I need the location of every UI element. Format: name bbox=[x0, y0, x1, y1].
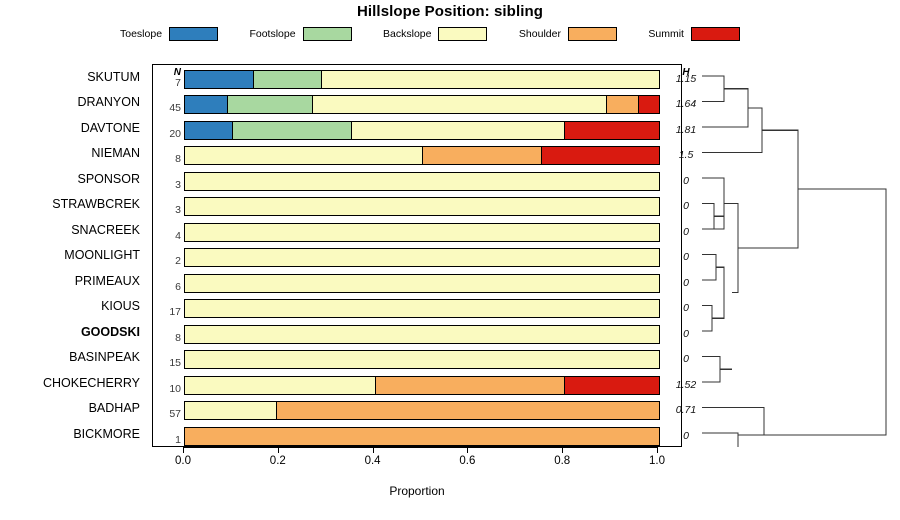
dendrogram-svg bbox=[700, 64, 896, 447]
legend-swatch-shoulder bbox=[568, 27, 617, 41]
row-n-value: 4 bbox=[153, 230, 181, 242]
bar-segment-shoulder bbox=[185, 428, 659, 445]
category-label-goodski[interactable]: GOODSKI bbox=[81, 325, 140, 339]
legend-swatch-footslope bbox=[303, 27, 352, 41]
stacked-bar[interactable] bbox=[184, 223, 660, 242]
legend-item-toeslope[interactable]: Toeslope bbox=[120, 27, 218, 41]
category-label-dranyon[interactable]: DRANYON bbox=[77, 95, 140, 109]
legend-item-label: Backslope bbox=[383, 28, 431, 40]
stacked-bar[interactable] bbox=[184, 350, 660, 369]
x-tick bbox=[278, 447, 279, 453]
category-label-strawbcrek[interactable]: STRAWBCREK bbox=[52, 197, 140, 211]
bar-segment-toeslope bbox=[185, 96, 227, 113]
chart-row[interactable]: 17 bbox=[153, 295, 681, 319]
stacked-bar[interactable] bbox=[184, 325, 660, 344]
legend-swatch-toeslope bbox=[169, 27, 218, 41]
legend-swatch-backslope bbox=[438, 27, 487, 41]
bar-segment-backslope bbox=[185, 300, 659, 317]
x-tick bbox=[562, 447, 563, 453]
bar-segment-shoulder bbox=[422, 147, 541, 164]
page-title: Hillslope Position: sibling bbox=[0, 3, 900, 20]
row-n-value: 6 bbox=[153, 281, 181, 293]
chart-row[interactable]: 45 bbox=[153, 91, 681, 115]
legend-item-backslope[interactable]: Backslope bbox=[383, 27, 487, 41]
stacked-bar[interactable] bbox=[184, 401, 660, 420]
stacked-bar[interactable] bbox=[184, 95, 660, 114]
chart-row[interactable]: 57 bbox=[153, 397, 681, 421]
legend-item-summit[interactable]: Summit bbox=[648, 27, 740, 41]
chart-row[interactable]: 3 bbox=[153, 193, 681, 217]
bar-segment-backslope bbox=[312, 96, 607, 113]
chart-row[interactable]: 2 bbox=[153, 244, 681, 268]
plot-area: N745208334261781510571 bbox=[152, 64, 682, 447]
row-n-value: 20 bbox=[153, 128, 181, 140]
legend: ToeslopeFootslopeBackslopeShoulderSummit bbox=[120, 25, 740, 43]
chart-row[interactable]: 1 bbox=[153, 423, 681, 447]
row-n-value: 8 bbox=[153, 153, 181, 165]
stacked-bar[interactable] bbox=[184, 376, 660, 395]
category-label-chokecherry[interactable]: CHOKECHERRY bbox=[43, 376, 140, 390]
chart-row[interactable]: 4 bbox=[153, 219, 681, 243]
x-tick-label: 1.0 bbox=[637, 455, 677, 467]
legend-item-label: Summit bbox=[648, 28, 684, 40]
bar-segment-backslope bbox=[185, 326, 659, 343]
chart-row[interactable]: 20 bbox=[153, 117, 681, 141]
bar-segment-backslope bbox=[185, 198, 659, 215]
stacked-bar[interactable] bbox=[184, 121, 660, 140]
bar-segment-footslope bbox=[253, 71, 321, 88]
legend-item-label: Toeslope bbox=[120, 28, 162, 40]
category-label-kious[interactable]: KIOUS bbox=[101, 299, 140, 313]
bar-segment-toeslope bbox=[185, 122, 232, 139]
bar-segment-backslope bbox=[185, 224, 659, 241]
bar-segment-backslope bbox=[185, 173, 659, 190]
row-n-value: 10 bbox=[153, 383, 181, 395]
row-n-value: 1 bbox=[153, 434, 181, 446]
stacked-bar[interactable] bbox=[184, 248, 660, 267]
row-n-value: 17 bbox=[153, 306, 181, 318]
bar-segment-summit bbox=[564, 377, 659, 394]
category-label-moonlight[interactable]: MOONLIGHT bbox=[64, 248, 140, 262]
stacked-bar[interactable] bbox=[184, 172, 660, 191]
bar-segment-shoulder bbox=[375, 377, 565, 394]
chart-row[interactable]: 10 bbox=[153, 372, 681, 396]
chart-row[interactable]: 8 bbox=[153, 142, 681, 166]
category-label-primeaux[interactable]: PRIMEAUX bbox=[75, 274, 140, 288]
legend-item-label: Shoulder bbox=[519, 28, 561, 40]
bar-segment-footslope bbox=[227, 96, 311, 113]
legend-item-footslope[interactable]: Footslope bbox=[249, 27, 351, 41]
category-label-bickmore[interactable]: BICKMORE bbox=[73, 427, 140, 441]
bar-segment-toeslope bbox=[185, 71, 253, 88]
category-label-snacreek[interactable]: SNACREEK bbox=[71, 223, 140, 237]
category-label-sponsor[interactable]: SPONSOR bbox=[77, 172, 140, 186]
row-n-value: 15 bbox=[153, 357, 181, 369]
bar-segment-backslope bbox=[185, 377, 375, 394]
row-n-value: 7 bbox=[153, 77, 181, 89]
stacked-bar[interactable] bbox=[184, 274, 660, 293]
x-tick bbox=[467, 447, 468, 453]
bar-segment-backslope bbox=[185, 351, 659, 368]
row-n-value: 45 bbox=[153, 102, 181, 114]
stacked-bar[interactable] bbox=[184, 146, 660, 165]
category-label-basinpeak[interactable]: BASINPEAK bbox=[69, 350, 140, 364]
x-tick-label: 0.0 bbox=[163, 455, 203, 467]
chart-row[interactable]: 3 bbox=[153, 168, 681, 192]
x-tick-label: 0.8 bbox=[542, 455, 582, 467]
category-label-skutum[interactable]: SKUTUM bbox=[87, 70, 140, 84]
bar-segment-backslope bbox=[351, 122, 564, 139]
bar-segment-backslope bbox=[185, 147, 422, 164]
stacked-bar[interactable] bbox=[184, 299, 660, 318]
legend-item-label: Footslope bbox=[249, 28, 295, 40]
row-n-value: 2 bbox=[153, 255, 181, 267]
bar-segment-backslope bbox=[185, 402, 276, 419]
stacked-bar[interactable] bbox=[184, 197, 660, 216]
x-axis-line bbox=[183, 447, 657, 448]
legend-swatch-summit bbox=[691, 27, 740, 41]
chart-row[interactable]: 7 bbox=[153, 66, 681, 90]
dendrogram bbox=[700, 64, 896, 447]
bar-segment-backslope bbox=[185, 249, 659, 266]
chart-row[interactable]: 15 bbox=[153, 346, 681, 370]
stacked-bar[interactable] bbox=[184, 427, 660, 446]
stacked-bar[interactable] bbox=[184, 70, 660, 89]
x-tick-label: 0.6 bbox=[447, 455, 487, 467]
category-label-davtone[interactable]: DAVTONE bbox=[81, 121, 140, 135]
category-label-nieman[interactable]: NIEMAN bbox=[91, 146, 140, 160]
bar-segment-footslope bbox=[232, 122, 351, 139]
x-tick bbox=[183, 447, 184, 453]
bar-segment-backslope bbox=[185, 275, 659, 292]
category-label-badhap[interactable]: BADHAP bbox=[89, 401, 140, 415]
bar-segment-shoulder bbox=[276, 402, 659, 419]
bar-segment-summit bbox=[638, 96, 659, 113]
category-axis-labels: SKUTUMDRANYONDAVTONENIEMANSPONSORSTRAWBC… bbox=[0, 64, 148, 447]
row-n-value: 57 bbox=[153, 408, 181, 420]
x-tick-label: 0.4 bbox=[353, 455, 393, 467]
x-axis: 0.00.20.40.60.81.0 bbox=[152, 447, 682, 481]
bar-segment-summit bbox=[564, 122, 659, 139]
row-n-value: 8 bbox=[153, 332, 181, 344]
x-axis-title: Proportion bbox=[152, 484, 682, 498]
chart-row[interactable]: 6 bbox=[153, 270, 681, 294]
bar-segment-backslope bbox=[321, 71, 659, 88]
legend-item-shoulder[interactable]: Shoulder bbox=[519, 27, 617, 41]
bar-segment-shoulder bbox=[606, 96, 638, 113]
row-n-value: 3 bbox=[153, 179, 181, 191]
chart-row[interactable]: 8 bbox=[153, 321, 681, 345]
x-tick-label: 0.2 bbox=[258, 455, 298, 467]
chart-root: Hillslope Position: sibling ToeslopeFoot… bbox=[0, 0, 900, 520]
x-tick bbox=[373, 447, 374, 453]
row-n-value: 3 bbox=[153, 204, 181, 216]
x-tick bbox=[657, 447, 658, 453]
bar-segment-summit bbox=[541, 147, 660, 164]
